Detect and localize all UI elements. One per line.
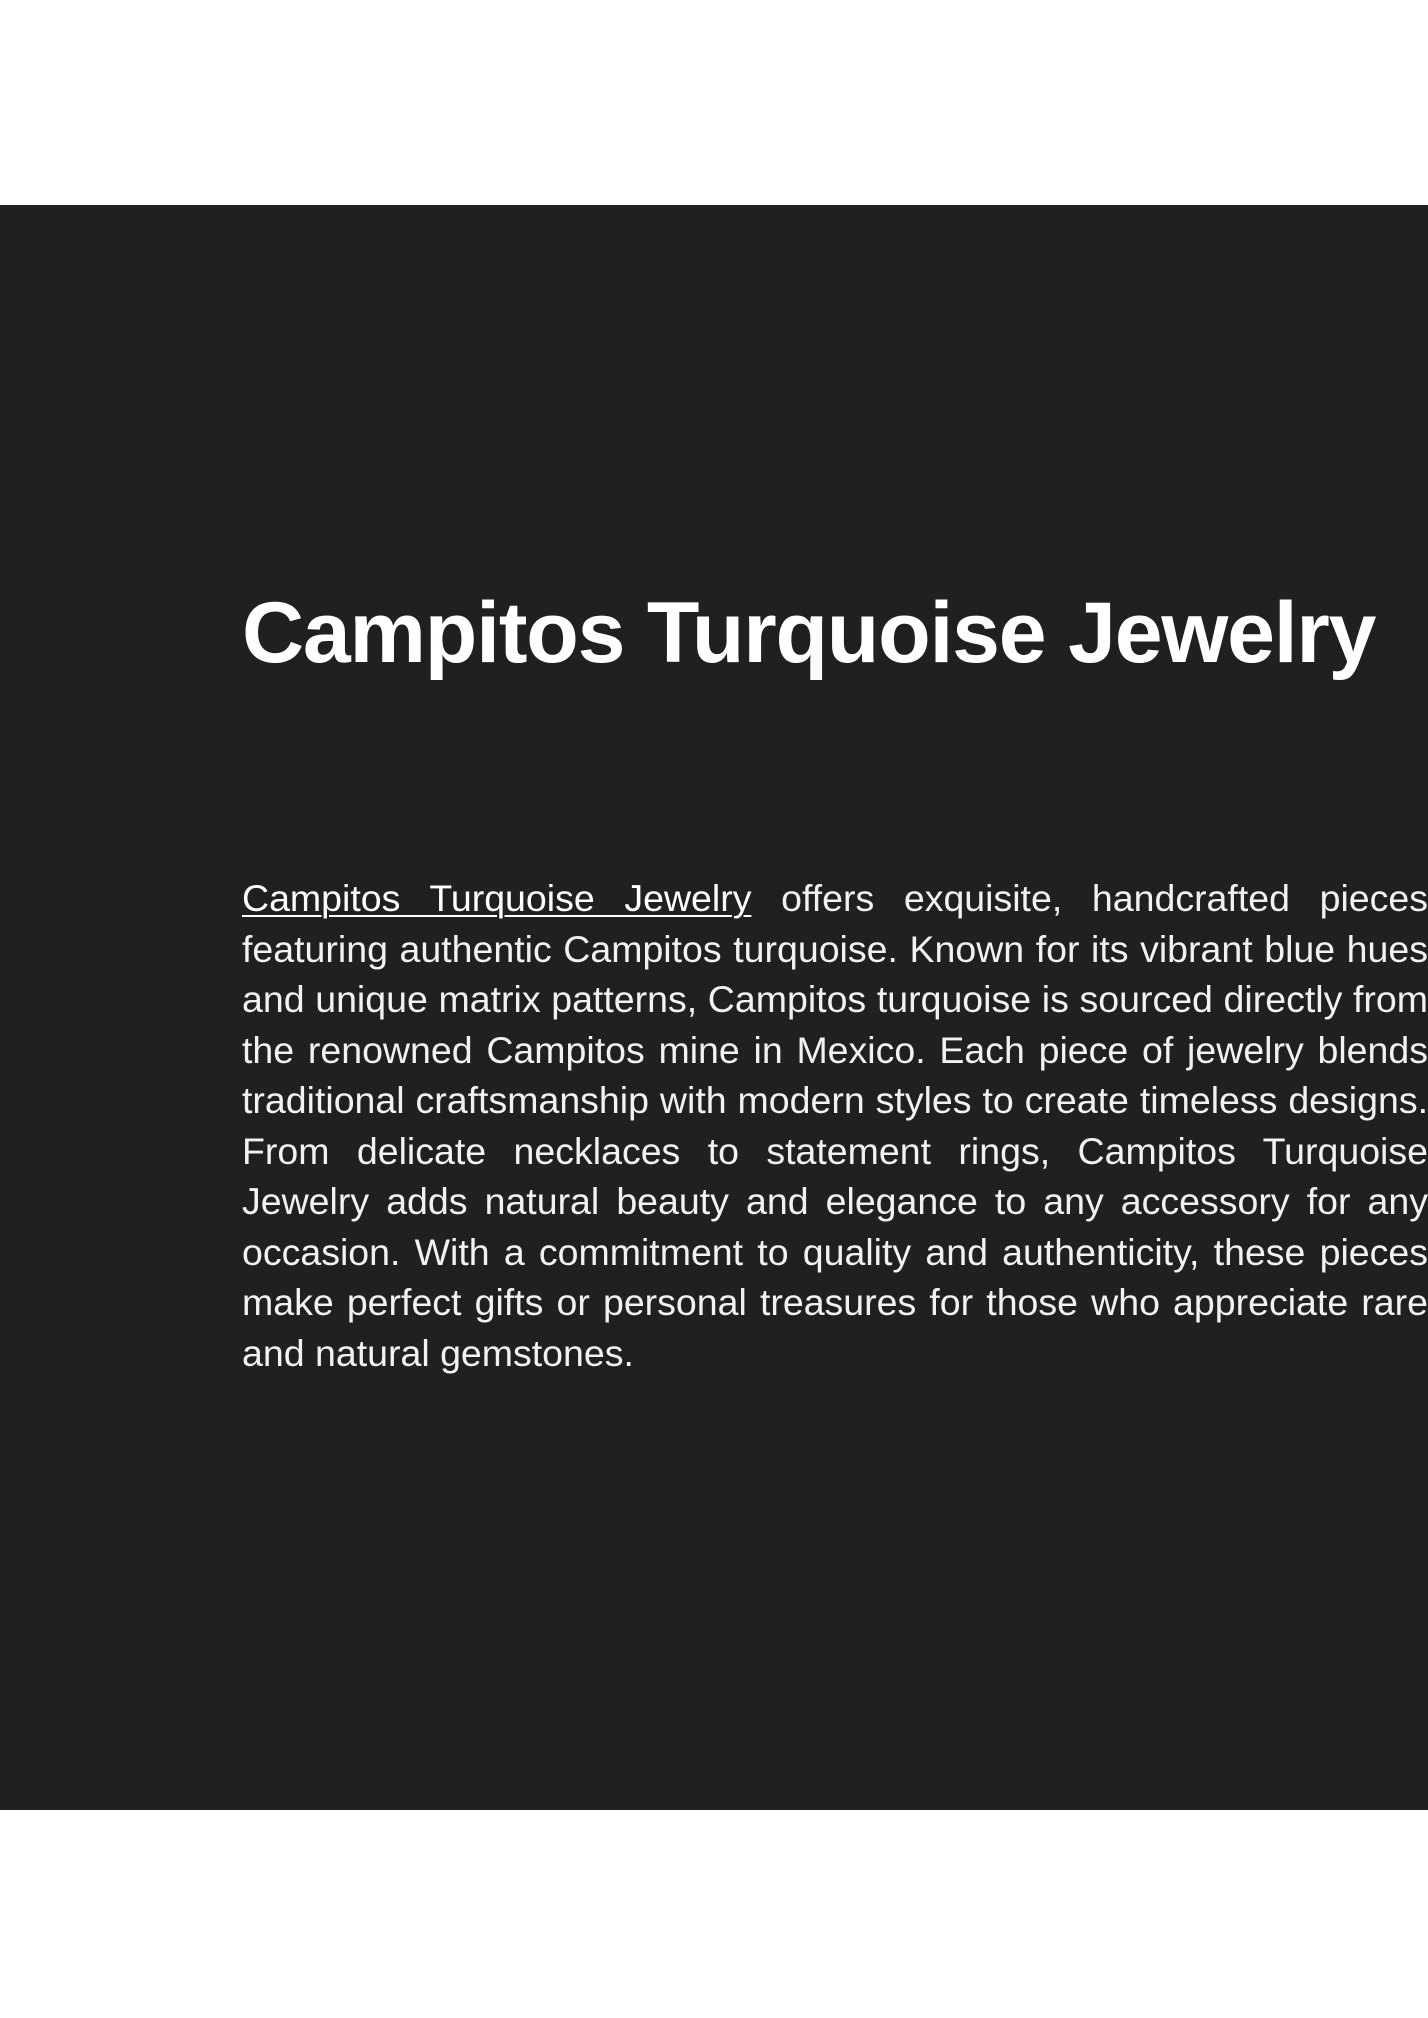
page-title: Campitos Turquoise Jewelry [242, 585, 1428, 681]
article-body-paragraph: Campitos Turquoise Jewelry offers exquis… [242, 873, 1428, 1378]
article-body-text: offers exquisite, handcrafted pieces fea… [242, 877, 1428, 1374]
campitos-turquoise-jewelry-link[interactable]: Campitos Turquoise Jewelry [242, 877, 751, 919]
article-panel: Campitos Turquoise Jewelry Campitos Turq… [0, 205, 1428, 1810]
page-root: Campitos Turquoise Jewelry Campitos Turq… [0, 0, 1428, 2018]
